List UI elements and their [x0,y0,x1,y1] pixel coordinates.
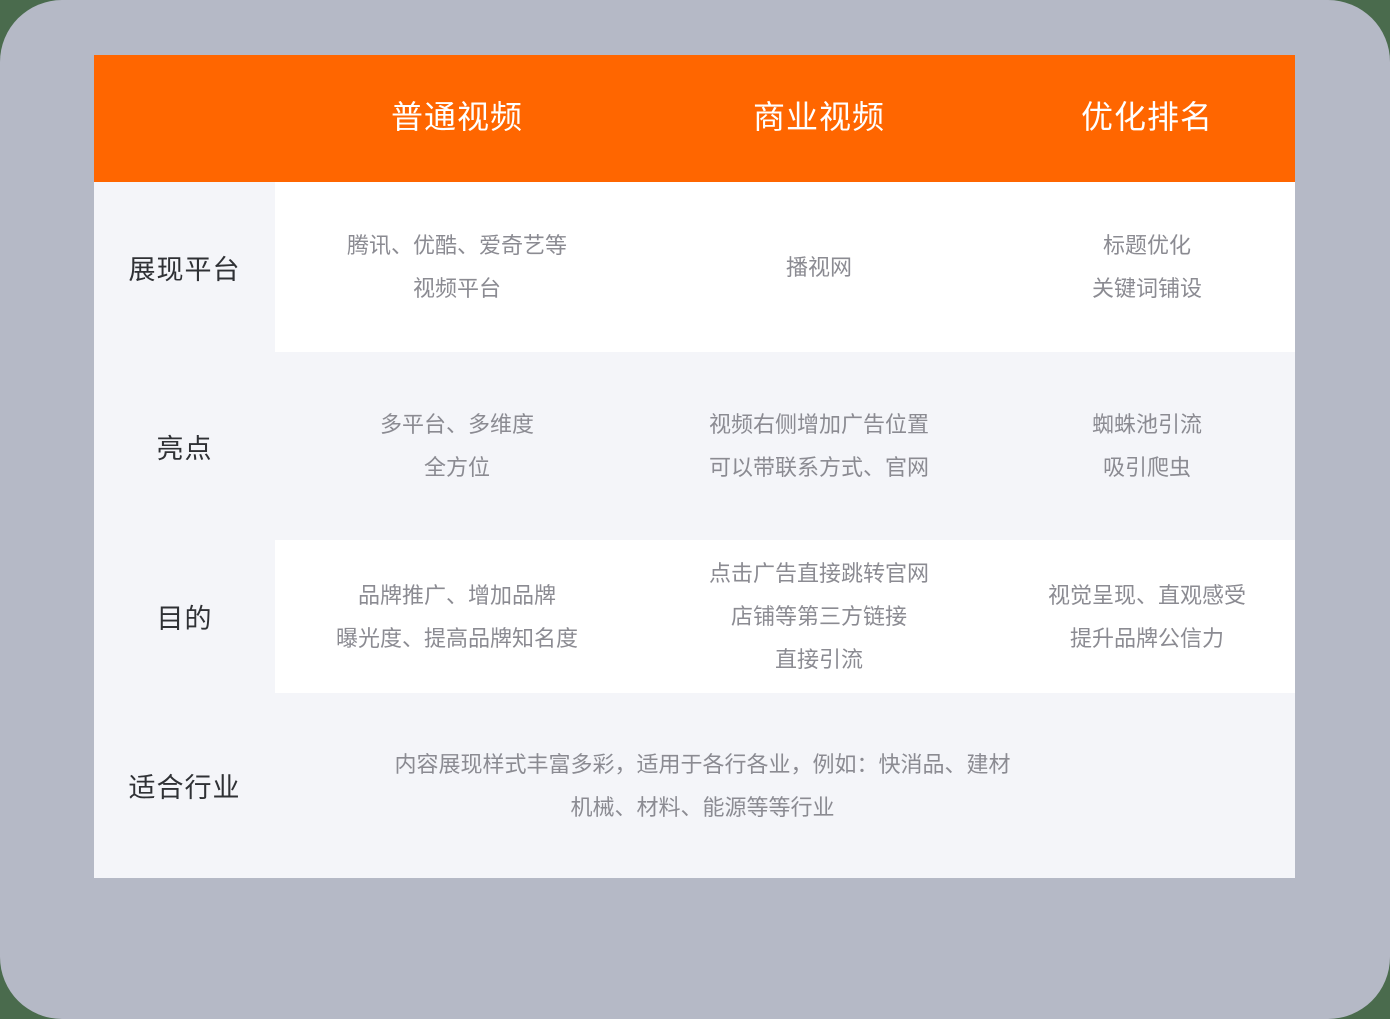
table-header-cell-commercial-video: 商业视频 [639,55,999,182]
table-row: 适合行业 内容展现样式丰富多彩，适用于各行各业，例如：快消品、建材 机械、材料、… [94,693,1295,878]
table-cell: 品牌推广、增加品牌 曝光度、提高品牌知名度 [275,574,639,660]
table-row: 展现平台 腾讯、优酷、爱奇艺等 视频平台 播视网 标题优化 关键词铺设 [94,182,1295,352]
table-cell: 视频右侧增加广告位置 可以带联系方式、官网 [639,403,999,489]
table-row: 目的 品牌推广、增加品牌 曝光度、提高品牌知名度 点击广告直接跳转官网 店铺等第… [94,540,1295,693]
cell-line: 机械、材料、能源等等行业 [570,786,834,829]
device-frame: 普通视频 商业视频 优化排名 展现平台 腾讯、优酷、爱奇艺等 视频平台 播视网 … [0,0,1390,1019]
row-cells: 多平台、多维度 全方位 视频右侧增加广告位置 可以带联系方式、官网 蜘蛛池引流 … [275,352,1295,540]
table-header-row: 普通视频 商业视频 优化排名 [94,55,1295,182]
cell-line: 视觉呈现、直观感受 [1048,574,1246,617]
table-cell: 腾讯、优酷、爱奇艺等 视频平台 [275,224,639,310]
cell-line: 全方位 [424,446,490,489]
cell-line: 播视网 [786,246,852,289]
table-header-cell-ranking-optimization: 优化排名 [999,55,1295,182]
cell-line: 标题优化 [1103,224,1191,267]
cell-line: 内容展现样式丰富多彩，适用于各行各业，例如：快消品、建材 [394,743,1010,786]
cell-line: 蜘蛛池引流 [1092,403,1202,446]
cell-line: 提升品牌公信力 [1070,617,1224,660]
row-label-purpose: 目的 [94,540,275,693]
cell-line: 可以带联系方式、官网 [709,446,929,489]
cell-line: 多平台、多维度 [380,403,534,446]
cell-line: 品牌推广、增加品牌 [358,574,556,617]
cell-line: 腾讯、优酷、爱奇艺等 [347,224,567,267]
table-cell: 播视网 [639,246,999,289]
row-label-highlights: 亮点 [94,352,275,540]
table-cell: 蜘蛛池引流 吸引爬虫 [999,403,1295,489]
table-cell: 标题优化 关键词铺设 [999,224,1295,310]
table-cell: 多平台、多维度 全方位 [275,403,639,489]
row-cells: 腾讯、优酷、爱奇艺等 视频平台 播视网 标题优化 关键词铺设 [275,182,1295,352]
cell-line: 视频平台 [413,267,501,310]
table-cell: 点击广告直接跳转官网 店铺等第三方链接 直接引流 [639,552,999,681]
cell-line: 店铺等第三方链接 [731,595,907,638]
table-cell: 视觉呈现、直观感受 提升品牌公信力 [999,574,1295,660]
row-label-suitable-industries: 适合行业 [94,693,275,878]
row-cells: 内容展现样式丰富多彩，适用于各行各业，例如：快消品、建材 机械、材料、能源等等行… [275,693,1295,878]
row-label-display-platform: 展现平台 [94,182,275,352]
table-row: 亮点 多平台、多维度 全方位 视频右侧增加广告位置 可以带联系方式、官网 蜘蛛池… [94,352,1295,540]
table-header-corner [94,55,275,182]
cell-line: 关键词铺设 [1092,267,1202,310]
comparison-table: 普通视频 商业视频 优化排名 展现平台 腾讯、优酷、爱奇艺等 视频平台 播视网 … [94,55,1295,878]
cell-line: 吸引爬虫 [1103,446,1191,489]
table-header-cell-ordinary-video: 普通视频 [275,55,639,182]
table-cell-merged: 内容展现样式丰富多彩，适用于各行各业，例如：快消品、建材 机械、材料、能源等等行… [275,743,1295,829]
cell-line: 点击广告直接跳转官网 [709,552,929,595]
cell-line: 直接引流 [775,638,863,681]
row-cells: 品牌推广、增加品牌 曝光度、提高品牌知名度 点击广告直接跳转官网 店铺等第三方链… [275,540,1295,693]
cell-line: 曝光度、提高品牌知名度 [336,617,578,660]
cell-line: 视频右侧增加广告位置 [709,403,929,446]
